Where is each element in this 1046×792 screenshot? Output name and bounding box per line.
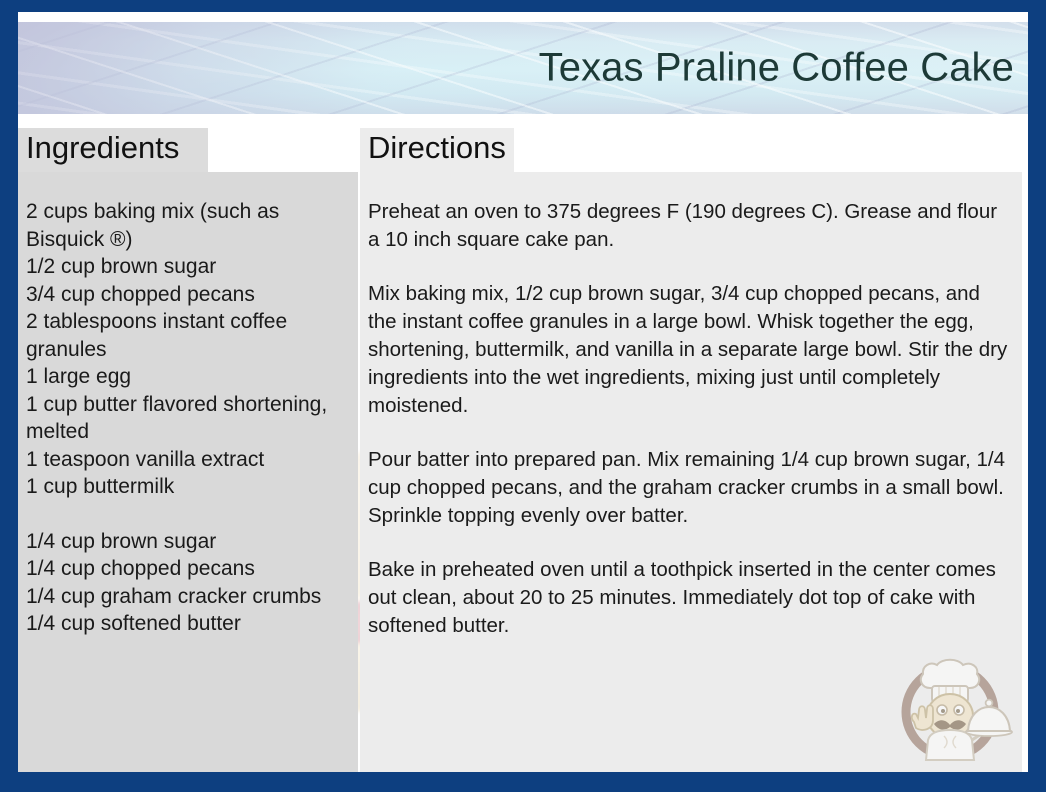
ingredients-group-spacer — [26, 501, 346, 528]
ingredient-item: 1/4 cup graham cracker crumbs — [26, 583, 346, 611]
ingredient-item: 1/4 cup softened butter — [26, 610, 346, 638]
recipe-card: Texas Praline Coffee Cake — [0, 0, 1046, 792]
page-title: Texas Praline Coffee Cake — [539, 46, 1014, 91]
title-banner: Texas Praline Coffee Cake — [18, 22, 1028, 114]
ingredients-panel: 2 cups baking mix (such as Bisquick ®)1/… — [18, 172, 358, 772]
direction-step: Pour batter into prepared pan. Mix remai… — [368, 446, 1008, 530]
directions-header-label: Directions — [368, 130, 506, 166]
ingredient-item: 1/4 cup brown sugar — [26, 528, 346, 556]
ingredient-item: 1 cup buttermilk — [26, 473, 346, 501]
ingredient-item: 2 cups baking mix (such as Bisquick ®) — [26, 198, 346, 253]
ingredient-item: 1 cup butter flavored shortening, melted — [26, 391, 346, 446]
ingredient-item: 1 teaspoon vanilla extract — [26, 446, 346, 474]
directions-header-tab: Directions — [360, 128, 514, 172]
ingredient-item: 2 tablespoons instant coffee granules — [26, 308, 346, 363]
directions-steps: Preheat an oven to 375 degrees F (190 de… — [360, 172, 1022, 772]
recipe-page: Texas Praline Coffee Cake — [18, 12, 1028, 772]
direction-step: Preheat an oven to 375 degrees F (190 de… — [368, 198, 1008, 254]
ingredients-header-label: Ingredients — [26, 130, 179, 166]
ingredient-item: 1 large egg — [26, 363, 346, 391]
directions-panel: Preheat an oven to 375 degrees F (190 de… — [360, 172, 1022, 772]
ingredient-item: 1/2 cup brown sugar — [26, 253, 346, 281]
ingredient-item: 3/4 cup chopped pecans — [26, 281, 346, 309]
ingredient-item: 1/4 cup chopped pecans — [26, 555, 346, 583]
direction-step: Bake in preheated oven until a toothpick… — [368, 556, 1008, 640]
ingredients-header-tab: Ingredients — [18, 128, 208, 172]
direction-step: Mix baking mix, 1/2 cup brown sugar, 3/4… — [368, 280, 1008, 420]
ingredients-list: 2 cups baking mix (such as Bisquick ®)1/… — [18, 172, 358, 772]
